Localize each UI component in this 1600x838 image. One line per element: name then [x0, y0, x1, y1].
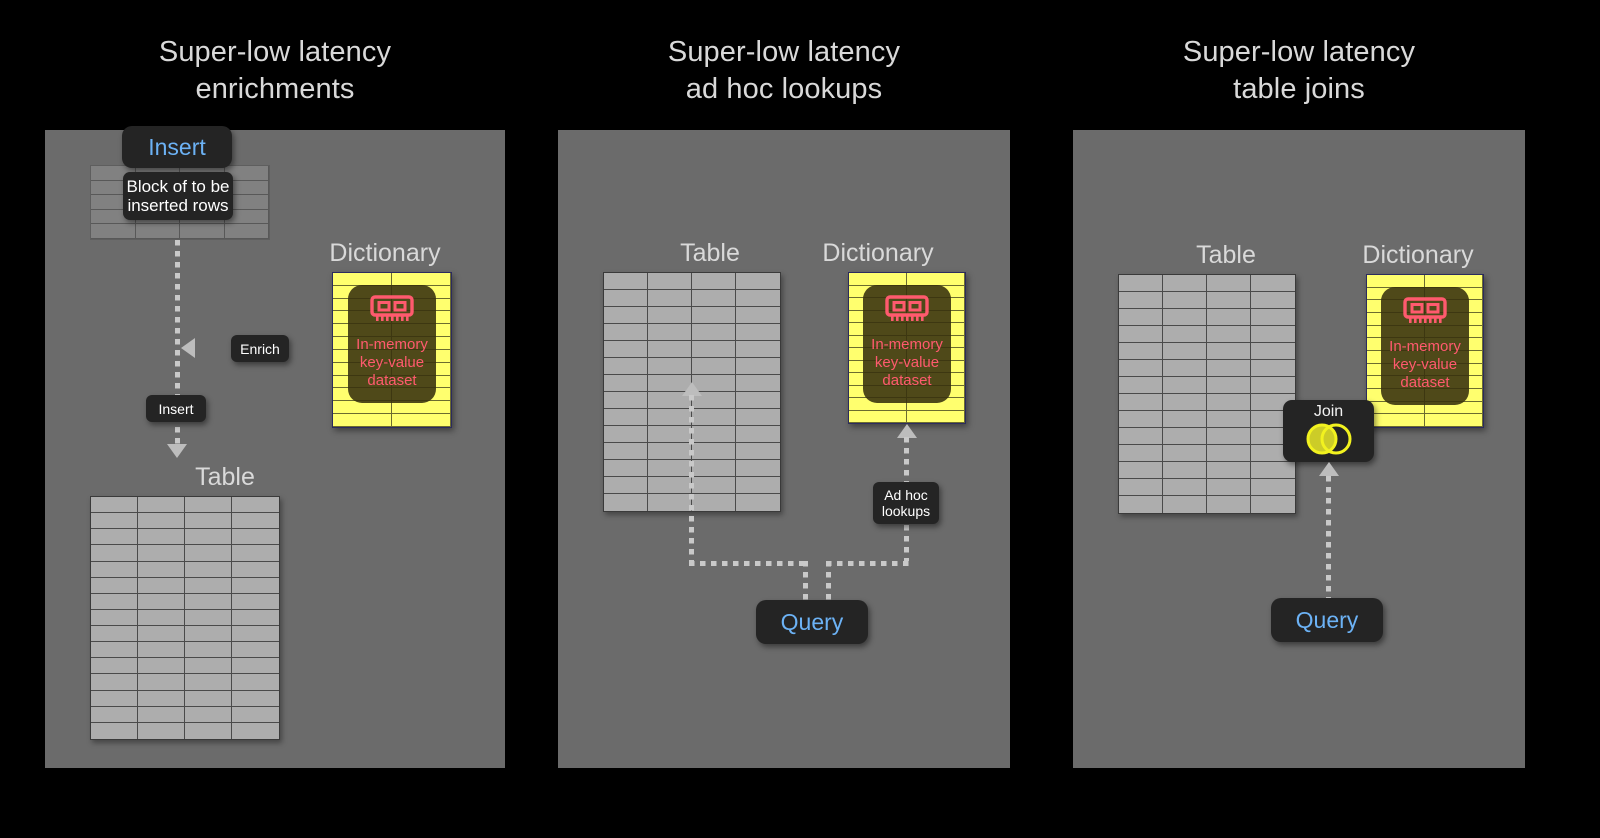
dictionary-label-p2: Dictionary: [788, 238, 968, 268]
grid-cell: [1425, 414, 1483, 427]
grid-cell: [232, 497, 279, 513]
grid-cell: [333, 414, 392, 427]
query-to-table-vertical: [689, 395, 694, 561]
grid-cell: [1119, 292, 1163, 309]
grid-cell: [1163, 309, 1207, 326]
grid-cell: [604, 426, 648, 443]
ram-chip-icon: [1403, 297, 1447, 332]
table-label-p2: Table: [615, 238, 805, 268]
grid-cell: [648, 358, 692, 375]
grid-cell: [604, 409, 648, 426]
ram-chip-icon: [885, 295, 929, 330]
grid-cell: [604, 494, 648, 511]
table-label-p1: Table: [140, 462, 310, 492]
grid-cell: [736, 392, 780, 409]
grid-cell: [185, 497, 232, 513]
insert-flow-arrowhead: [167, 444, 187, 458]
grid-cell: [1163, 292, 1207, 309]
dictionary-label-p1: Dictionary: [305, 238, 465, 268]
grid-cell: [1425, 275, 1483, 288]
grid-cell: [185, 723, 232, 739]
grid-cell: [1163, 445, 1207, 462]
in-memory-dataset-text-p2: In-memory key-value dataset: [871, 336, 943, 390]
grid-cell: [736, 494, 780, 511]
grid-cell: [91, 529, 138, 545]
query-to-table-horizontal: [689, 561, 807, 566]
grid-cell: [185, 658, 232, 674]
grid-cell: [1163, 360, 1207, 377]
grid-cell: [648, 426, 692, 443]
enrich-arrowhead: [181, 338, 195, 358]
diagram-canvas: Super-low latency enrichments Insert Blo…: [0, 0, 1600, 838]
grid-cell: [1207, 479, 1251, 496]
enrich-label: Enrich: [240, 341, 280, 357]
grid-cell: [692, 443, 736, 460]
grid-cell: [1251, 326, 1295, 343]
grid-cell: [692, 494, 736, 511]
insert-badge-middle: Insert: [146, 395, 206, 422]
grid-cell: [692, 477, 736, 494]
grid-cell: [185, 562, 232, 578]
grid-cell: [648, 273, 692, 290]
grid-cell: [91, 545, 138, 561]
grid-cell: [185, 529, 232, 545]
grid-cell: [1119, 360, 1163, 377]
grid-cell: [185, 610, 232, 626]
grid-cell: [736, 358, 780, 375]
grid-cell: [333, 401, 392, 414]
grid-cell: [1119, 462, 1163, 479]
table-grid-p1: [90, 496, 280, 740]
grid-cell: [138, 562, 185, 578]
grid-cell: [1251, 309, 1295, 326]
grid-cell: [648, 443, 692, 460]
grid-cell: [232, 707, 279, 723]
grid-cell: [185, 545, 232, 561]
grid-cell: [736, 341, 780, 358]
grid-cell: [907, 273, 965, 286]
panel-table-joins: Table Dictionary In-memory key: [1073, 130, 1525, 768]
grid-cell: [136, 224, 181, 239]
grid-cell: [1207, 445, 1251, 462]
query-to-join-arrowhead: [1319, 462, 1339, 476]
grid-cell: [849, 273, 907, 286]
grid-cell: [91, 224, 136, 239]
grid-cell: [736, 324, 780, 341]
grid-cell: [604, 460, 648, 477]
grid-cell: [138, 642, 185, 658]
grid-cell: [1119, 326, 1163, 343]
grid-cell: [1251, 377, 1295, 394]
grid-cell: [1251, 360, 1295, 377]
grid-cell: [604, 307, 648, 324]
grid-cell: [232, 691, 279, 707]
grid-cell: [91, 562, 138, 578]
grid-cell: [1207, 428, 1251, 445]
in-memory-dataset-overlay-p3: In-memory key-value dataset: [1381, 287, 1469, 405]
grid-cell: [138, 529, 185, 545]
insert-badge-top-label: Insert: [148, 134, 206, 161]
block-caption-label: Block of to be inserted rows: [126, 177, 229, 215]
grid-cell: [91, 594, 138, 610]
join-badge[interactable]: Join: [1283, 400, 1374, 462]
grid-cell: [232, 513, 279, 529]
grid-cell: [648, 460, 692, 477]
grid-cell: [1251, 496, 1295, 513]
grid-cell: [91, 578, 138, 594]
grid-cell: [138, 610, 185, 626]
grid-cell: [736, 273, 780, 290]
grid-cell: [692, 460, 736, 477]
grid-cell: [1119, 394, 1163, 411]
grid-cell: [1207, 360, 1251, 377]
grid-cell: [1251, 292, 1295, 309]
enrich-badge: Enrich: [231, 335, 289, 362]
grid-cell: [1119, 496, 1163, 513]
grid-cell: [138, 594, 185, 610]
grid-cell: [185, 691, 232, 707]
venn-diagram-icon: [1298, 422, 1360, 461]
grid-cell: [1207, 496, 1251, 513]
grid-cell: [91, 658, 138, 674]
panel-title-enrichments: Super-low latency enrichments: [45, 34, 505, 108]
grid-cell: [138, 545, 185, 561]
ram-chip-icon: [370, 295, 414, 330]
grid-cell: [1207, 275, 1251, 292]
grid-cell: [91, 610, 138, 626]
grid-cell: [1207, 343, 1251, 360]
grid-cell: [392, 401, 451, 414]
grid-cell: [736, 307, 780, 324]
dictionary-label-p3: Dictionary: [1323, 240, 1513, 270]
grid-cell: [736, 375, 780, 392]
block-caption-badge: Block of to be inserted rows: [123, 172, 233, 220]
grid-cell: [1207, 394, 1251, 411]
grid-cell: [232, 658, 279, 674]
query-badge-p3[interactable]: Query: [1271, 598, 1383, 642]
query-to-table-arrowhead: [682, 382, 702, 396]
grid-cell: [648, 477, 692, 494]
panel-ad-hoc-lookups: Table Dictionary In-memory key: [558, 130, 1010, 768]
grid-cell: [1207, 309, 1251, 326]
grid-cell: [907, 411, 965, 424]
grid-cell: [1119, 411, 1163, 428]
grid-cell: [91, 642, 138, 658]
grid-cell: [232, 626, 279, 642]
grid-cell: [648, 290, 692, 307]
grid-cell: [692, 324, 736, 341]
grid-cell: [333, 273, 392, 286]
grid-cell: [185, 642, 232, 658]
grid-cell: [138, 497, 185, 513]
grid-cell: [692, 409, 736, 426]
grid-cell: [392, 414, 451, 427]
grid-cell: [604, 341, 648, 358]
grid-cell: [736, 290, 780, 307]
grid-cell: [1163, 411, 1207, 428]
grid-cell: [91, 723, 138, 739]
grid-cell: [232, 529, 279, 545]
grid-cell: [1251, 462, 1295, 479]
grid-cell: [648, 307, 692, 324]
grid-cell: [604, 477, 648, 494]
grid-cell: [138, 578, 185, 594]
grid-cell: [736, 409, 780, 426]
grid-cell: [1251, 343, 1295, 360]
query-badge-p2[interactable]: Query: [756, 600, 868, 644]
grid-cell: [648, 494, 692, 511]
grid-cell: [225, 224, 270, 239]
grid-cell: [180, 224, 225, 239]
grid-cell: [604, 290, 648, 307]
grid-cell: [138, 626, 185, 642]
grid-cell: [392, 273, 451, 286]
grid-cell: [138, 658, 185, 674]
grid-cell: [1163, 343, 1207, 360]
query-to-dictionary-arrowhead: [897, 424, 917, 438]
grid-cell: [1207, 292, 1251, 309]
grid-cell: [138, 674, 185, 690]
grid-cell: [185, 578, 232, 594]
grid-cell: [1251, 479, 1295, 496]
grid-cell: [648, 409, 692, 426]
grid-cell: [736, 443, 780, 460]
grid-cell: [91, 513, 138, 529]
grid-cell: [692, 426, 736, 443]
grid-cell: [232, 562, 279, 578]
grid-cell: [185, 513, 232, 529]
grid-cell: [1163, 479, 1207, 496]
grid-cell: [1163, 326, 1207, 343]
grid-cell: [91, 497, 138, 513]
grid-cell: [1119, 275, 1163, 292]
grid-cell: [692, 307, 736, 324]
query-to-dictionary-horizontal: [826, 561, 909, 566]
in-memory-dataset-overlay-p1: In-memory key-value dataset: [348, 285, 436, 403]
insert-badge-top[interactable]: Insert: [122, 126, 232, 168]
grid-cell: [185, 626, 232, 642]
grid-cell: [1163, 377, 1207, 394]
grid-cell: [1367, 275, 1425, 288]
grid-cell: [648, 324, 692, 341]
grid-cell: [91, 626, 138, 642]
grid-cell: [604, 324, 648, 341]
grid-cell: [1119, 445, 1163, 462]
grid-cell: [1251, 275, 1295, 292]
grid-cell: [604, 273, 648, 290]
grid-cell: [232, 674, 279, 690]
grid-cell: [736, 460, 780, 477]
grid-cell: [1119, 343, 1163, 360]
grid-cell: [604, 375, 648, 392]
in-memory-dataset-text-p3: In-memory key-value dataset: [1389, 338, 1461, 392]
grid-cell: [185, 707, 232, 723]
panel-enrichments: Insert Block of to be inserted rows Enri…: [45, 130, 505, 768]
grid-cell: [736, 477, 780, 494]
grid-cell: [232, 723, 279, 739]
panel-title-ad-hoc-lookups: Super-low latency ad hoc lookups: [558, 34, 1010, 108]
grid-cell: [692, 341, 736, 358]
grid-cell: [1119, 377, 1163, 394]
grid-cell: [1207, 377, 1251, 394]
grid-cell: [1119, 428, 1163, 445]
grid-cell: [232, 545, 279, 561]
grid-cell: [1163, 496, 1207, 513]
in-memory-dataset-text-p1: In-memory key-value dataset: [356, 336, 428, 390]
grid-cell: [1119, 479, 1163, 496]
insert-badge-middle-label: Insert: [158, 401, 193, 417]
grid-cell: [849, 411, 907, 424]
grid-cell: [232, 578, 279, 594]
grid-cell: [604, 443, 648, 460]
table-grid-p3: [1118, 274, 1296, 514]
grid-cell: [648, 341, 692, 358]
grid-cell: [1207, 326, 1251, 343]
grid-cell: [138, 513, 185, 529]
panel-title-table-joins: Super-low latency table joins: [1073, 34, 1525, 108]
table-label-p3: Table: [1131, 240, 1321, 270]
in-memory-dataset-overlay-p2: In-memory key-value dataset: [863, 285, 951, 403]
grid-cell: [1207, 462, 1251, 479]
grid-cell: [1367, 414, 1425, 427]
grid-cell: [91, 674, 138, 690]
grid-cell: [604, 392, 648, 409]
grid-cell: [692, 358, 736, 375]
grid-cell: [692, 273, 736, 290]
grid-cell: [138, 691, 185, 707]
grid-cell: [138, 707, 185, 723]
query-label-p2: Query: [781, 609, 844, 636]
ad-hoc-lookups-badge: Ad hoc lookups: [873, 482, 939, 524]
grid-cell: [692, 290, 736, 307]
grid-cell: [232, 594, 279, 610]
grid-cell: [232, 610, 279, 626]
grid-cell: [1163, 275, 1207, 292]
grid-cell: [736, 426, 780, 443]
grid-cell: [1207, 411, 1251, 428]
grid-cell: [1163, 462, 1207, 479]
grid-cell: [138, 723, 185, 739]
grid-cell: [185, 674, 232, 690]
grid-cell: [1119, 309, 1163, 326]
grid-cell: [185, 594, 232, 610]
grid-cell: [232, 642, 279, 658]
grid-cell: [91, 707, 138, 723]
grid-cell: [604, 358, 648, 375]
query-label-p3: Query: [1296, 607, 1359, 634]
join-label: Join: [1314, 403, 1343, 421]
query-to-join-connector: [1326, 476, 1331, 600]
grid-cell: [1163, 394, 1207, 411]
ad-hoc-lookups-label: Ad hoc lookups: [882, 487, 930, 519]
grid-cell: [1163, 428, 1207, 445]
grid-cell: [91, 691, 138, 707]
